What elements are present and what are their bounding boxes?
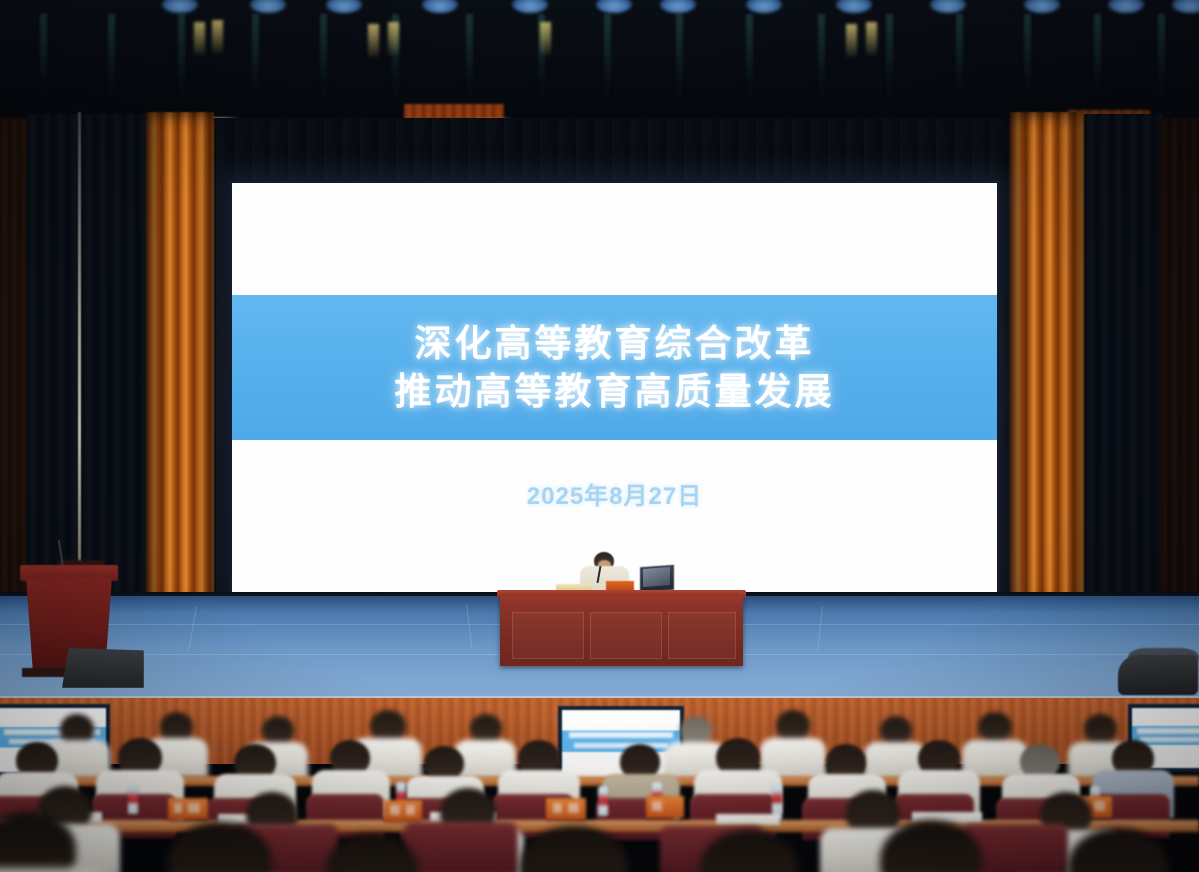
handout-paper <box>716 814 780 825</box>
water-bottle <box>772 784 782 814</box>
auditorium-photo: 深化高等教育综合改革 推动高等教育高质量发展 2025年8月27日 <box>0 0 1199 872</box>
ceiling-light-icon <box>930 0 966 13</box>
water-bottle <box>598 786 608 816</box>
ceiling-light-icon <box>836 0 872 13</box>
laptop-screen <box>643 567 670 587</box>
water-bottle <box>128 784 138 814</box>
presenter-desk <box>500 596 743 666</box>
ceiling-light-icon <box>746 0 782 13</box>
dark-curtain-left <box>26 114 148 614</box>
ceiling-light-icon <box>512 0 548 13</box>
name-placard <box>546 798 586 820</box>
name-placard <box>646 796 684 818</box>
side-curtain-far-left <box>0 118 26 612</box>
orange-curtain-left <box>146 112 214 610</box>
name-placard <box>168 798 208 820</box>
stage-monitor-speaker-right <box>1118 655 1198 695</box>
name-placard <box>384 800 422 822</box>
slide-title-line-2: 推动高等教育高质量发展 <box>395 371 835 412</box>
slide-date: 2025年8月27日 <box>527 476 702 511</box>
ceiling-light-icon <box>326 0 362 13</box>
stage-monitor-speaker-left <box>62 648 144 688</box>
audience-area <box>0 700 1199 872</box>
ceiling-light-icon <box>1108 0 1144 13</box>
slide-title-line-1: 深化高等教育综合改革 <box>415 323 815 364</box>
ceiling-light-icon <box>1172 0 1199 13</box>
slide-top-band <box>232 183 997 295</box>
ceiling-light-icon <box>162 0 198 13</box>
side-curtain-far-right <box>1160 118 1199 612</box>
ceiling-light-icon <box>250 0 286 13</box>
dark-curtain-right <box>1084 114 1162 614</box>
ceiling <box>0 0 1199 128</box>
presentation-slide: 深化高等教育综合改革 推动高等教育高质量发展 2025年8月27日 <box>232 183 997 595</box>
ceiling-light-icon <box>660 0 696 13</box>
ceiling-light-icon <box>596 0 632 13</box>
ceiling-light-icon <box>422 0 458 13</box>
orange-curtain-right <box>1010 112 1084 610</box>
light-pole <box>78 112 81 567</box>
ceiling-light-icon <box>1024 0 1060 13</box>
slide-title-band: 深化高等教育综合改革 推动高等教育高质量发展 <box>232 295 997 440</box>
